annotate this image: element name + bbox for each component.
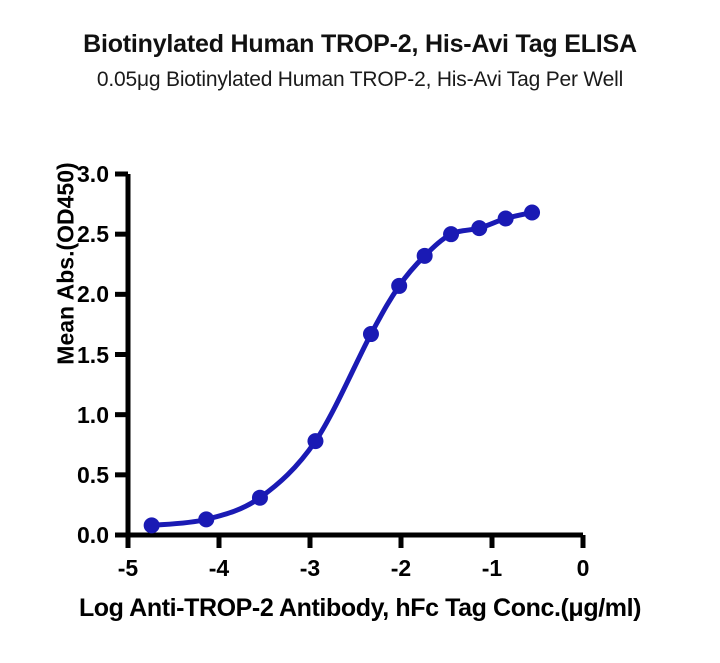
x-tick-label: -3 — [288, 557, 332, 580]
y-tick-label: 0.5 — [49, 464, 109, 487]
x-axis-title: Log Anti-TROP-2 Antibody, hFc Tag Conc.(… — [0, 594, 720, 623]
x-tick-label: -5 — [106, 557, 150, 580]
y-axis-title: Mean Abs.(OD450) — [53, 94, 80, 434]
plot-area: 0.00.51.01.52.02.53.0 -5-4-3-2-10 Mean A… — [0, 0, 720, 658]
y-tick-label: 0.0 — [49, 524, 109, 547]
data-point-markers — [144, 205, 540, 534]
axes-group — [128, 174, 583, 535]
data-point-marker — [471, 220, 487, 236]
data-point-marker — [198, 511, 214, 527]
data-point-marker — [443, 226, 459, 242]
x-tick-label: -4 — [197, 557, 241, 580]
dose-response-curve — [152, 213, 532, 526]
data-point-marker — [144, 517, 160, 533]
data-point-marker — [252, 490, 268, 506]
x-tick-label: 0 — [561, 557, 605, 580]
elisa-chart-figure: Biotinylated Human TROP-2, His-Avi Tag E… — [0, 0, 720, 658]
data-point-marker — [498, 211, 514, 227]
x-tick-label: -2 — [379, 557, 423, 580]
x-tick-label: -1 — [470, 557, 514, 580]
data-point-marker — [363, 326, 379, 342]
data-point-marker — [417, 248, 433, 264]
data-point-marker — [391, 278, 407, 294]
data-point-marker — [307, 433, 323, 449]
data-point-marker — [524, 205, 540, 221]
